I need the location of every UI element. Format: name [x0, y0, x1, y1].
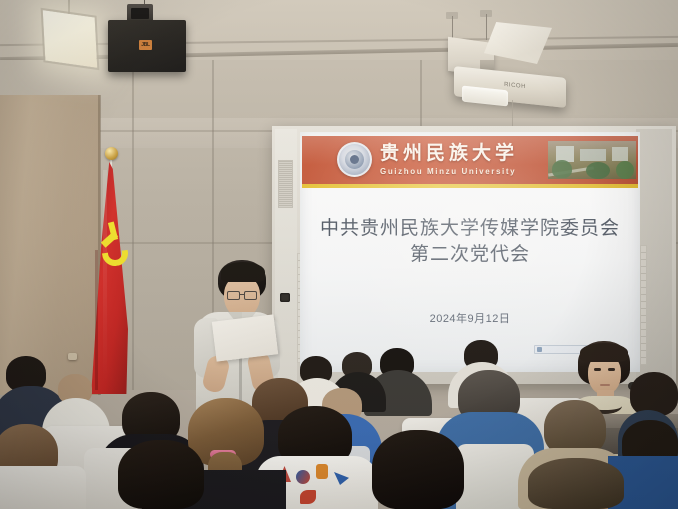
university-seal-core	[350, 155, 359, 164]
eyeglasses-icon	[244, 291, 257, 300]
banner-gold-underline	[302, 184, 638, 188]
audience-head	[372, 430, 464, 509]
speaker-brand-label: JBL	[139, 40, 152, 50]
jacket-pattern-motif	[300, 490, 316, 504]
auditorium-chair[interactable]	[0, 466, 86, 509]
flag-finial-icon	[105, 147, 118, 160]
door-handle[interactable]	[68, 353, 77, 360]
jacket-pattern-motif	[316, 464, 328, 479]
audience-head	[118, 440, 204, 509]
panel-member-mouth	[600, 384, 610, 386]
flag-fold-highlight	[103, 170, 107, 385]
panel-member-eye	[594, 368, 601, 371]
audience-head	[528, 458, 624, 509]
slide-date: 2024年9月12日	[302, 310, 638, 328]
ceiling-light-rim	[41, 8, 100, 70]
presenter-report-paper	[212, 314, 278, 361]
conference-room-photo: JBL RICOH 贵州民族大学 Guizhou Minzu Universit…	[0, 0, 678, 509]
wooden-door[interactable]	[0, 95, 100, 395]
whiteboard-speaker-grille	[278, 160, 293, 208]
university-name-cn: 贵州民族大学	[380, 142, 540, 166]
presenter-fringe	[221, 262, 265, 282]
university-name-en: Guizhou Minzu University	[380, 166, 550, 178]
wall-panel-seam	[132, 60, 134, 390]
speaker-bracket-inset	[131, 8, 149, 19]
eyeglasses-icon	[227, 291, 240, 300]
projector-hanger-rod	[486, 14, 487, 40]
flag-fold-shadow	[95, 250, 98, 390]
panel-member-fringe	[580, 343, 628, 362]
audience-head	[630, 372, 678, 416]
campus-building	[612, 147, 628, 161]
eyeglasses-bridge	[240, 294, 244, 295]
wall-panel-seam	[420, 60, 422, 130]
slide-toolbar-icon[interactable]	[537, 347, 542, 352]
campus-tree	[552, 160, 572, 178]
campus-tree	[586, 162, 610, 179]
campus-tree	[616, 161, 634, 179]
slide-title-line1: 中共贵州民族大学传媒学院委员会	[302, 216, 638, 242]
whiteboard-ir-sensor-icon	[280, 293, 290, 302]
jacket-pattern-motif	[296, 470, 310, 484]
panel-member-eye	[608, 368, 615, 371]
slide-title-line2: 第二次党代会	[302, 242, 638, 268]
projector-cable	[512, 100, 513, 126]
campus-building	[580, 149, 606, 161]
whiteboard-toolbar-strip-right[interactable]	[640, 245, 647, 365]
